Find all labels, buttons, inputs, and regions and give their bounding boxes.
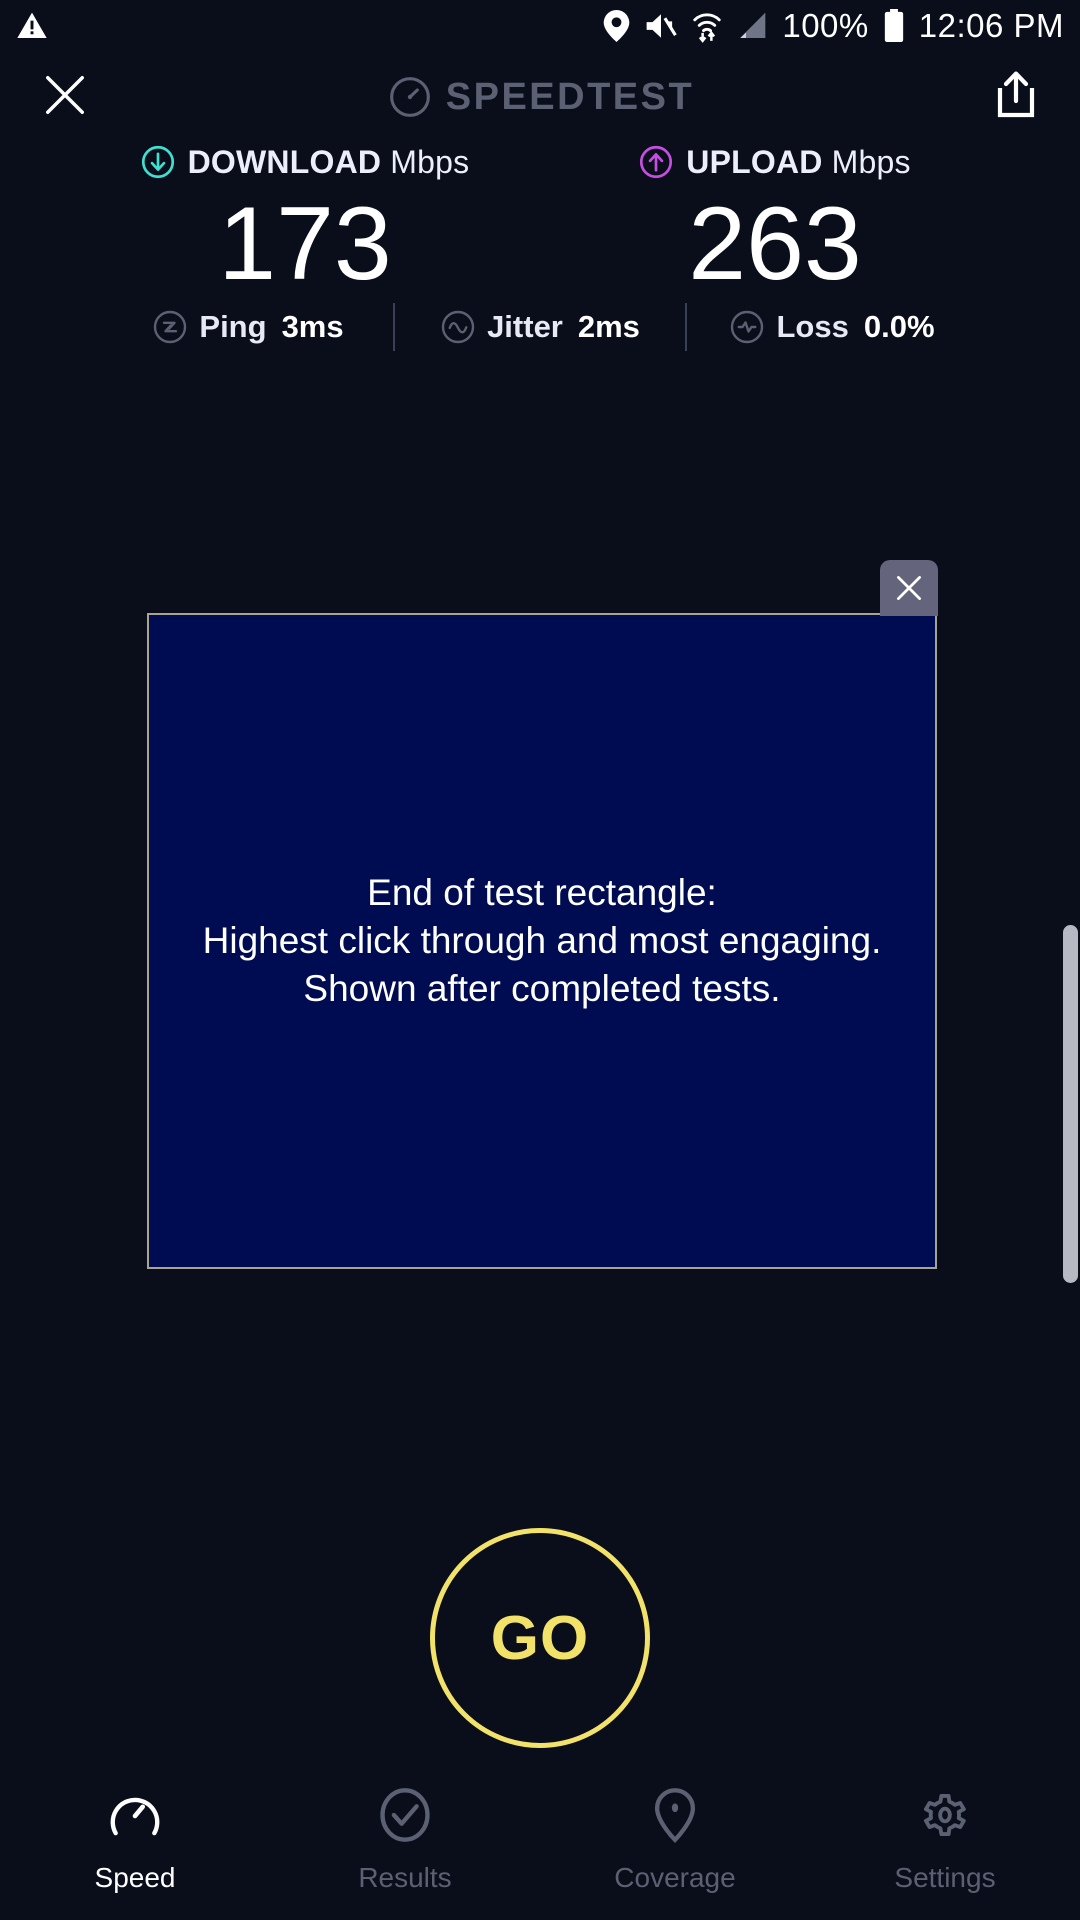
loss-value: 0.0% xyxy=(864,309,935,345)
nav-label-settings: Settings xyxy=(894,1862,995,1894)
ad-text: End of test rectangle: Highest click thr… xyxy=(203,869,882,1013)
go-button-label: GO xyxy=(491,1603,589,1674)
brand-logo: SPEEDTEST xyxy=(388,75,694,119)
arrow-up-circle-icon xyxy=(639,145,673,179)
ping-icon xyxy=(152,309,188,345)
test-results: DOWNLOAD Mbps 173 UP xyxy=(0,140,1080,300)
download-value: 173 xyxy=(115,188,495,300)
gear-icon xyxy=(916,1786,974,1844)
ad-text-line-2: Highest click through and most engaging. xyxy=(203,917,882,965)
nav-item-results[interactable]: Results xyxy=(270,1786,540,1894)
go-button[interactable]: GO xyxy=(430,1528,650,1748)
share-icon xyxy=(994,71,1038,119)
wifi-icon xyxy=(692,9,722,43)
app-title: SPEEDTEST xyxy=(446,76,694,119)
jitter-value: 2ms xyxy=(578,309,640,345)
cellular-signal-icon xyxy=(736,10,768,42)
metric-ping: Ping 3ms xyxy=(103,309,393,345)
ad-banner[interactable]: End of test rectangle: Highest click thr… xyxy=(147,613,937,1269)
share-button[interactable] xyxy=(994,71,1038,124)
nav-item-speed[interactable]: Speed xyxy=(0,1786,270,1894)
close-button[interactable] xyxy=(42,72,88,123)
bottom-navigation: Speed Results Coverage xyxy=(0,1760,1080,1920)
map-pin-icon xyxy=(646,1786,704,1844)
upload-unit: Mbps xyxy=(832,144,911,180)
arrow-down-circle-icon xyxy=(141,145,175,179)
nav-label-speed: Speed xyxy=(95,1862,176,1894)
network-metrics: Ping 3ms Jitter 2ms Loss 0.0 xyxy=(0,296,1080,358)
volume-mute-icon xyxy=(644,10,678,42)
upload-result: UPLOAD Mbps 263 xyxy=(585,140,965,300)
location-pin-icon xyxy=(603,10,630,42)
close-icon xyxy=(42,72,88,118)
download-label: DOWNLOAD xyxy=(188,144,382,180)
status-bar-left xyxy=(16,10,48,42)
download-unit: Mbps xyxy=(390,144,469,180)
app-header: SPEEDTEST xyxy=(0,58,1080,136)
scrollbar-thumb[interactable] xyxy=(1063,925,1078,1283)
ping-label: Ping xyxy=(199,309,266,345)
download-result: DOWNLOAD Mbps 173 xyxy=(115,140,495,300)
speedtest-app-screen: 100% 12:06 PM SP xyxy=(0,0,1080,1920)
loss-icon xyxy=(729,309,765,345)
upload-value: 263 xyxy=(585,188,965,300)
close-icon xyxy=(892,571,926,605)
clock-label: 12:06 PM xyxy=(919,7,1064,45)
metric-jitter: Jitter 2ms xyxy=(395,309,685,345)
speedometer-icon xyxy=(388,75,432,119)
check-circle-icon xyxy=(376,1786,434,1844)
nav-label-results: Results xyxy=(358,1862,451,1894)
nav-item-coverage[interactable]: Coverage xyxy=(540,1786,810,1894)
ping-value: 3ms xyxy=(282,309,344,345)
jitter-label: Jitter xyxy=(487,309,563,345)
battery-percent-label: 100% xyxy=(782,7,868,45)
nav-label-coverage: Coverage xyxy=(614,1862,735,1894)
speedometer-icon xyxy=(106,1786,164,1844)
metric-loss: Loss 0.0% xyxy=(687,309,977,345)
jitter-icon xyxy=(440,309,476,345)
upload-label: UPLOAD xyxy=(686,144,822,180)
ad-close-button[interactable] xyxy=(880,560,938,616)
status-bar-right: 100% 12:06 PM xyxy=(603,7,1064,45)
warning-triangle-icon xyxy=(16,10,48,42)
status-bar: 100% 12:06 PM xyxy=(0,0,1080,52)
ad-text-line-1: End of test rectangle: xyxy=(203,869,882,917)
loss-label: Loss xyxy=(776,309,848,345)
nav-item-settings[interactable]: Settings xyxy=(810,1786,1080,1894)
ad-text-line-3: Shown after completed tests. xyxy=(203,965,882,1013)
battery-full-icon xyxy=(883,9,905,43)
